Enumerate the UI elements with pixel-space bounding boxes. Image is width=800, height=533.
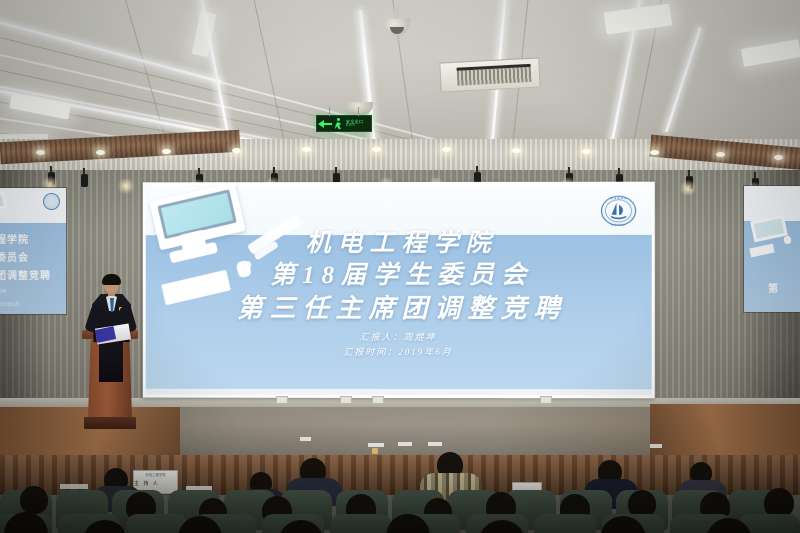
banner-inner: ★ ★ ★ ★ ★ UNIVERSITY 机电工程学院 第18届学生委员会 第三… [146,185,652,396]
banner-text-block: 机电工程学院 第18届学生委员会 第三任主席团调整竞聘 汇报人：周煜坤 汇报时间… [146,229,652,358]
side-projection-screen-right: 第 [744,186,800,312]
side-screen-left-line2: 委员会 [0,249,51,264]
side-screen-left-sub1: 煜坤 [0,288,51,295]
presenter-at-podium [82,276,140,366]
downlight [232,148,241,153]
audience [0,440,800,533]
downlight [650,150,659,155]
podium-base [84,417,136,429]
spotlight-glow [118,178,134,194]
side-screen-left-line1: 程学院 [0,231,51,246]
auditorium-seat [534,514,596,533]
auditorium-seat [330,514,392,533]
screen-mount-tab [540,396,552,404]
audience-head [20,486,48,514]
spotlight-glow [680,180,696,196]
banner-presenter-label: 汇报人：周煜坤 [360,330,437,343]
running-person-icon [334,118,343,129]
exit-arrow-icon [319,123,332,125]
side-screen-left-sub2: 2019年6月 [0,301,51,308]
university-emblem [43,193,60,210]
presenter-hair [102,274,121,285]
downlight [162,149,171,154]
air-conditioner-vent [439,57,540,92]
side-screen-left-line3: 团调整竞聘 [0,267,51,282]
screen-mount-tab [276,396,288,404]
vent-grill [457,64,532,86]
banner-bottom-edge [146,388,652,395]
screen-mount-tab [340,396,352,404]
downlight [442,147,451,152]
banner-title-line-1: 机电工程学院 [299,229,498,259]
side-screen-right-line1: 第 [768,280,779,295]
main-projection-banner: ★ ★ ★ ★ ★ UNIVERSITY 机电工程学院 第18届学生委员会 第三… [143,182,655,399]
downlight [372,147,381,152]
auditorium-scene: 安全出口 EXIT 程学院 委员会 [0,0,800,533]
svg-text:★ ★ ★ ★ ★: ★ ★ ★ ★ ★ [610,196,627,200]
screen-mount-tab [372,396,384,404]
downlight [582,149,591,154]
banner-title-line-3: 第三任主席团调整竞聘 [230,292,567,326]
banner-date-label: 汇报时间：2019年6月 [343,345,453,358]
exit-sign: 安全出口 EXIT [316,115,372,132]
track-spotlight [81,174,88,187]
downlight [512,148,521,153]
side-projection-screen-left: 程学院 委员会 团调整竞聘 煜坤 2019年6月 [0,188,66,314]
university-emblem: ★ ★ ★ ★ ★ UNIVERSITY [600,193,636,229]
downlight [302,147,311,152]
downlight [36,150,45,155]
downlight [96,150,105,155]
exit-sign-label-en: EXIT [346,124,363,128]
svg-text:UNIVERSITY: UNIVERSITY [611,224,627,227]
downlight [774,155,783,160]
downlight [716,152,725,157]
presenter-legs [99,340,123,382]
banner-title-line-2: 第18届学生委员会 [263,259,533,292]
